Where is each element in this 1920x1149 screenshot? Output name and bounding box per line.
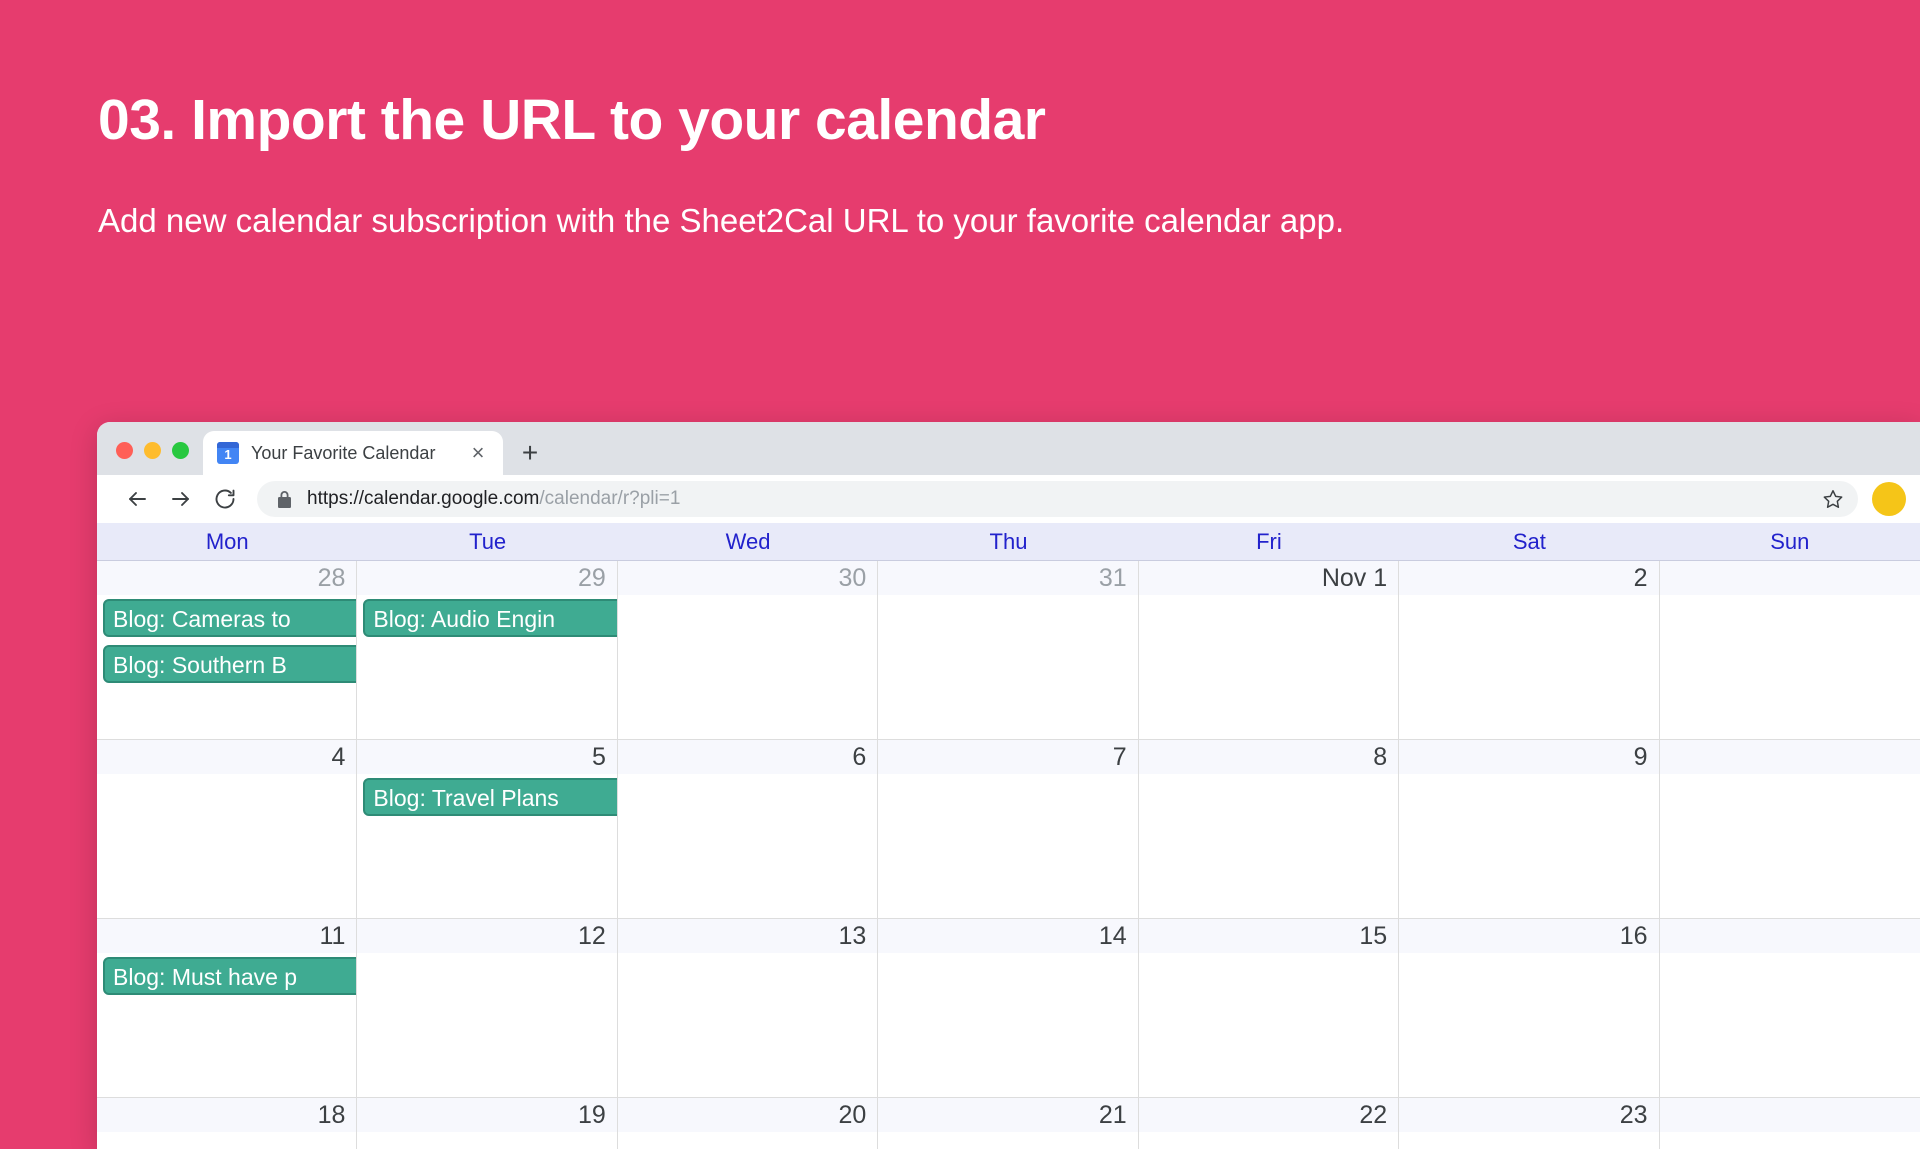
calendar-day-events: Blog: Must have p xyxy=(97,953,356,995)
calendar-day-cell[interactable]: 9 xyxy=(1399,740,1659,918)
calendar-day-number[interactable]: 29 xyxy=(578,566,606,591)
close-tab-icon[interactable]: × xyxy=(465,440,491,466)
calendar-month-view: MonTueWedThuFriSatSun 28Blog: Cameras to… xyxy=(97,523,1920,1149)
bookmark-star-icon[interactable] xyxy=(1816,488,1850,510)
calendar-day-events xyxy=(1399,774,1658,778)
calendar-day-cell[interactable] xyxy=(1660,919,1920,1097)
calendar-day-cell[interactable]: 15 xyxy=(1139,919,1399,1097)
calendar-day-events xyxy=(97,774,356,778)
calendar-day-number-band xyxy=(1660,561,1920,595)
calendar-day-number-band xyxy=(1660,1098,1920,1132)
page-title: 03. Import the URL to your calendar xyxy=(98,88,1798,154)
address-bar[interactable]: https://calendar.google.com/calendar/r?p… xyxy=(257,481,1858,517)
calendar-day-number[interactable]: 15 xyxy=(1359,924,1387,949)
calendar-day-events: Blog: Travel Plans xyxy=(357,774,616,816)
calendar-day-events: Blog: Cameras toBlog: Southern B xyxy=(97,595,356,683)
calendar-week-row: 28Blog: Cameras toBlog: Southern B29Blog… xyxy=(97,561,1920,740)
calendar-day-events xyxy=(878,595,1137,599)
calendar-day-number-band: 15 xyxy=(1139,919,1398,953)
hero-text-block: 03. Import the URL to your calendar Add … xyxy=(98,88,1798,251)
calendar-day-number-band: 20 xyxy=(618,1098,877,1132)
calendar-event-chip[interactable]: Blog: Southern B xyxy=(103,645,357,683)
calendar-day-cell[interactable]: 8 xyxy=(1139,740,1399,918)
calendar-day-number[interactable]: 6 xyxy=(852,745,866,770)
back-arrow-icon[interactable] xyxy=(115,479,159,519)
calendar-day-number[interactable]: 2 xyxy=(1634,566,1648,591)
calendar-day-cell[interactable]: 2 xyxy=(1399,561,1659,739)
calendar-day-headers: MonTueWedThuFriSatSun xyxy=(97,523,1920,561)
calendar-weeks: 28Blog: Cameras toBlog: Southern B29Blog… xyxy=(97,561,1920,1149)
calendar-day-number[interactable]: 4 xyxy=(332,745,346,770)
calendar-day-cell[interactable]: 21 xyxy=(878,1098,1138,1149)
calendar-day-header-sat: Sat xyxy=(1399,523,1659,560)
calendar-day-number[interactable]: 13 xyxy=(838,924,866,949)
calendar-day-number[interactable]: 16 xyxy=(1620,924,1648,949)
calendar-day-number-band xyxy=(1660,740,1920,774)
calendar-day-header-tue: Tue xyxy=(357,523,617,560)
address-bar-url: https://calendar.google.com/calendar/r?p… xyxy=(307,488,680,510)
calendar-day-events xyxy=(1660,953,1920,957)
calendar-event-chip[interactable]: Blog: Audio Engin xyxy=(363,599,617,637)
lock-icon xyxy=(277,491,293,508)
browser-tab[interactable]: 1 Your Favorite Calendar × xyxy=(203,431,503,475)
favicon-day-number: 1 xyxy=(224,447,231,464)
calendar-day-number[interactable]: 7 xyxy=(1113,745,1127,770)
browser-toolbar: https://calendar.google.com/calendar/r?p… xyxy=(97,475,1920,523)
calendar-day-number-band: 12 xyxy=(357,919,616,953)
calendar-day-cell[interactable]: 22 xyxy=(1139,1098,1399,1149)
calendar-day-events xyxy=(1399,953,1658,957)
forward-arrow-icon[interactable] xyxy=(159,479,203,519)
calendar-day-number[interactable]: 23 xyxy=(1620,1103,1648,1128)
calendar-day-cell[interactable]: 6 xyxy=(618,740,878,918)
calendar-day-header-fri: Fri xyxy=(1139,523,1399,560)
new-tab-icon[interactable]: + xyxy=(507,431,553,475)
browser-window: 1 Your Favorite Calendar × + ht xyxy=(97,422,1920,1149)
calendar-day-cell[interactable]: 30 xyxy=(618,561,878,739)
calendar-day-events xyxy=(1660,1132,1920,1136)
calendar-day-number[interactable]: 22 xyxy=(1359,1103,1387,1128)
calendar-day-events xyxy=(1399,595,1658,599)
calendar-day-number[interactable]: 21 xyxy=(1099,1103,1127,1128)
calendar-day-events xyxy=(618,595,877,599)
calendar-day-number[interactable]: 5 xyxy=(592,745,606,770)
calendar-day-events xyxy=(1660,595,1920,599)
calendar-day-number-band: 22 xyxy=(1139,1098,1398,1132)
calendar-day-number-band: 21 xyxy=(878,1098,1137,1132)
calendar-day-number[interactable]: 12 xyxy=(578,924,606,949)
calendar-day-number[interactable]: 30 xyxy=(838,566,866,591)
calendar-day-number[interactable]: 31 xyxy=(1099,566,1127,591)
calendar-day-number[interactable]: 19 xyxy=(578,1103,606,1128)
calendar-day-cell[interactable]: 5Blog: Travel Plans xyxy=(357,740,617,918)
calendar-day-number-band: 23 xyxy=(1399,1098,1658,1132)
calendar-day-cell[interactable]: 4 xyxy=(97,740,357,918)
calendar-day-cell[interactable]: 12 xyxy=(357,919,617,1097)
calendar-day-events xyxy=(97,1132,356,1136)
window-traffic-lights xyxy=(97,442,203,475)
browser-tab-title: Your Favorite Calendar xyxy=(251,443,459,464)
calendar-event-chip[interactable]: Blog: Travel Plans xyxy=(363,778,617,816)
calendar-day-number-band: 31 xyxy=(878,561,1137,595)
calendar-day-number-band: 18 xyxy=(97,1098,356,1132)
calendar-day-number-band: 16 xyxy=(1399,919,1658,953)
calendar-day-cell[interactable]: 28Blog: Cameras toBlog: Southern B xyxy=(97,561,357,739)
calendar-day-number-band: 28 xyxy=(97,561,356,595)
calendar-day-header-mon: Mon xyxy=(97,523,357,560)
calendar-day-events xyxy=(878,1132,1137,1136)
calendar-day-cell[interactable]: Nov 1 xyxy=(1139,561,1399,739)
calendar-day-cell[interactable]: 31 xyxy=(878,561,1138,739)
calendar-day-events xyxy=(878,774,1137,778)
profile-avatar[interactable] xyxy=(1872,482,1906,516)
calendar-day-cell[interactable]: 14 xyxy=(878,919,1138,1097)
calendar-day-number[interactable]: 20 xyxy=(838,1103,866,1128)
calendar-day-events xyxy=(878,953,1137,957)
calendar-day-events xyxy=(618,953,877,957)
calendar-day-events xyxy=(1139,595,1398,599)
calendar-week-row: 45Blog: Travel Plans6789 xyxy=(97,740,1920,919)
calendar-event-chip[interactable]: Blog: Cameras to xyxy=(103,599,357,637)
calendar-day-cell[interactable]: 7 xyxy=(878,740,1138,918)
calendar-day-cell[interactable]: 18 xyxy=(97,1098,357,1149)
calendar-day-cell[interactable]: 29Blog: Audio Engin xyxy=(357,561,617,739)
calendar-day-header-sun: Sun xyxy=(1660,523,1920,560)
calendar-day-events xyxy=(618,774,877,778)
calendar-day-events xyxy=(1139,953,1398,957)
calendar-day-cell[interactable]: 11Blog: Must have p xyxy=(97,919,357,1097)
calendar-day-cell[interactable]: 20 xyxy=(618,1098,878,1149)
calendar-day-events xyxy=(1399,1132,1658,1136)
calendar-day-number-band: 29 xyxy=(357,561,616,595)
close-window-icon[interactable] xyxy=(116,442,133,459)
calendar-week-row: 11Blog: Must have p1213141516 xyxy=(97,919,1920,1098)
calendar-day-events xyxy=(1139,1132,1398,1136)
calendar-day-events xyxy=(1660,774,1920,778)
calendar-day-number-band: 6 xyxy=(618,740,877,774)
calendar-day-number-band: 30 xyxy=(618,561,877,595)
calendar-day-cell[interactable] xyxy=(1660,740,1920,918)
calendar-day-number[interactable]: 28 xyxy=(318,566,346,591)
calendar-day-number-band xyxy=(1660,919,1920,953)
url-path: /calendar/r?pli=1 xyxy=(539,488,680,509)
calendar-day-number[interactable]: 11 xyxy=(319,924,345,949)
calendar-day-events xyxy=(357,1132,616,1136)
page-root: 03. Import the URL to your calendar Add … xyxy=(0,0,1920,1149)
calendar-day-number[interactable]: 9 xyxy=(1634,745,1648,770)
calendar-day-header-wed: Wed xyxy=(618,523,878,560)
url-origin: https://calendar.google.com xyxy=(307,488,539,509)
minimize-window-icon[interactable] xyxy=(144,442,161,459)
maximize-window-icon[interactable] xyxy=(172,442,189,459)
calendar-week-row: 181920212223 xyxy=(97,1098,1920,1149)
calendar-day-number-band: 4 xyxy=(97,740,356,774)
calendar-day-cell[interactable] xyxy=(1660,561,1920,739)
calendar-day-cell[interactable]: 16 xyxy=(1399,919,1659,1097)
calendar-day-number-band: 11 xyxy=(97,919,356,953)
page-description: Add new calendar subscription with the S… xyxy=(98,190,1738,251)
calendar-day-number[interactable]: 14 xyxy=(1099,924,1127,949)
calendar-day-number-band: 9 xyxy=(1399,740,1658,774)
browser-tab-strip: 1 Your Favorite Calendar × + xyxy=(97,422,1920,475)
calendar-day-events xyxy=(357,953,616,957)
calendar-day-number[interactable]: Nov 1 xyxy=(1322,566,1387,591)
calendar-day-number-band: 14 xyxy=(878,919,1137,953)
calendar-day-cell[interactable]: 13 xyxy=(618,919,878,1097)
calendar-day-number-band: 19 xyxy=(357,1098,616,1132)
calendar-day-number-band: 8 xyxy=(1139,740,1398,774)
calendar-day-number-band: 5 xyxy=(357,740,616,774)
calendar-day-cell[interactable]: 19 xyxy=(357,1098,617,1149)
calendar-day-cell[interactable]: 23 xyxy=(1399,1098,1659,1149)
calendar-day-cell[interactable] xyxy=(1660,1098,1920,1149)
calendar-day-events xyxy=(1139,774,1398,778)
calendar-day-events: Blog: Audio Engin xyxy=(357,595,616,637)
calendar-day-number[interactable]: 8 xyxy=(1373,745,1387,770)
calendar-day-events xyxy=(618,1132,877,1136)
calendar-favicon-icon: 1 xyxy=(217,442,239,464)
calendar-event-chip[interactable]: Blog: Must have p xyxy=(103,957,357,995)
calendar-day-number-band: 7 xyxy=(878,740,1137,774)
calendar-day-number[interactable]: 18 xyxy=(318,1103,346,1128)
calendar-day-header-thu: Thu xyxy=(878,523,1138,560)
calendar-day-number-band: 2 xyxy=(1399,561,1658,595)
calendar-day-number-band: Nov 1 xyxy=(1139,561,1398,595)
calendar-day-number-band: 13 xyxy=(618,919,877,953)
reload-icon[interactable] xyxy=(203,479,247,519)
